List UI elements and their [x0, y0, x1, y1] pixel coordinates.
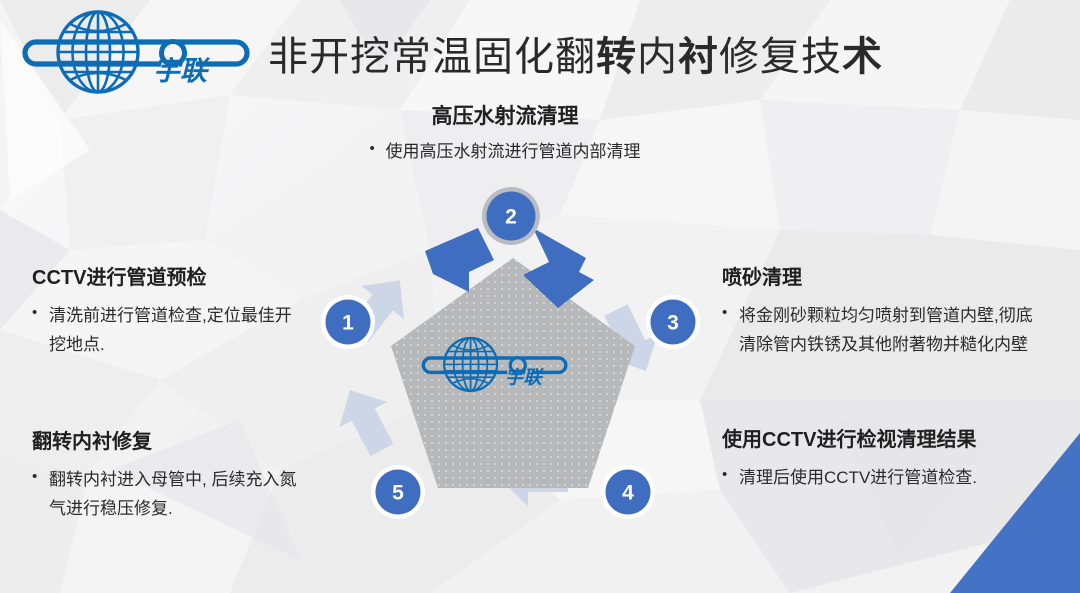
- step-badge-1[interactable]: 1: [321, 295, 375, 349]
- step-heading-high-pressure-water: 高压水射流清理: [290, 104, 720, 129]
- step-bullet-list-top: 使用高压水射流进行管道内部清理: [290, 137, 720, 166]
- step-text-block-top: 高压水射流清理 使用高压水射流进行管道内部清理: [290, 104, 720, 166]
- step-heading-cctv-precheck: CCTV进行管道预检: [32, 266, 304, 290]
- page-title-part-5: 修复技: [719, 35, 842, 79]
- logo-wordmark: 宇联: [153, 56, 211, 86]
- page-title-part-6: 术: [842, 35, 883, 79]
- process-cycle-diagram: 宇联 1 2 3: [318, 182, 708, 542]
- page-title-part-4: 衬: [678, 35, 719, 79]
- list-item: 翻转内衬进入母管中, 后续充入氮气进行稳压修复.: [32, 465, 304, 523]
- step-badge-2-label: 2: [505, 206, 517, 229]
- step-bullet-list-cctv-inspection: 清理后使用CCTV进行管道检查.: [722, 463, 1040, 492]
- list-item: 将金刚砂颗粒均匀喷射到管道内壁,彻底清除管内铁锈及其他附著物并糙化内壁: [722, 301, 1040, 359]
- slide-canvas: 宇联 非开挖常温固化翻转内衬修复技术: [0, 0, 1080, 593]
- step-badge-3[interactable]: 3: [646, 295, 700, 349]
- step-text-block-liner-repair: 翻转内衬修复 翻转内衬进入母管中, 后续充入氮气进行稳压修复.: [32, 430, 304, 523]
- step-text-block-cctv-inspection: 使用CCTV进行检视清理结果 清理后使用CCTV进行管道检查.: [722, 428, 1040, 492]
- step-badge-3-label: 3: [667, 312, 679, 335]
- page-title-part-2: 转: [596, 35, 637, 79]
- cycle-arrow-5: [326, 377, 406, 462]
- step-heading-cctv-inspection: 使用CCTV进行检视清理结果: [722, 428, 1040, 452]
- page-title: 非开挖常温固化翻转内衬修复技术: [268, 24, 883, 82]
- step-badge-1-label: 1: [342, 312, 354, 335]
- list-item: 清洗前进行管道检查,定位最佳开挖地点.: [32, 301, 304, 359]
- page-title-part-1: 非开挖常温固化翻: [268, 35, 596, 79]
- step-badge-5[interactable]: 5: [371, 465, 425, 519]
- step-heading-liner-repair: 翻转内衬修复: [32, 430, 304, 454]
- page-title-part-3: 内: [637, 35, 678, 79]
- slide-header: 宇联 非开挖常温固化翻转内衬修复技术: [0, 0, 1080, 100]
- step-bullet-list-sandblasting: 将金刚砂颗粒均匀喷射到管道内壁,彻底清除管内铁锈及其他附著物并糙化内壁: [722, 301, 1040, 359]
- center-logo-wordmark: 宇联: [505, 367, 544, 388]
- yulian-globe-pipe-logo: 宇联: [20, 8, 252, 96]
- step-heading-sandblasting: 喷砂清理: [722, 266, 1040, 290]
- step-badge-4[interactable]: 4: [601, 465, 655, 519]
- step-bullet-list-cctv-precheck: 清洗前进行管道检查,定位最佳开挖地点.: [32, 301, 304, 359]
- step-badge-4-label: 4: [622, 482, 634, 505]
- step-bullet-list-liner-repair: 翻转内衬进入母管中, 后续充入氮气进行稳压修复.: [32, 465, 304, 523]
- step-badge-5-label: 5: [392, 482, 404, 505]
- step-text-block-cctv-precheck: CCTV进行管道预检 清洗前进行管道检查,定位最佳开挖地点.: [32, 266, 304, 359]
- list-item: 清理后使用CCTV进行管道检查.: [722, 463, 1040, 492]
- list-item: 使用高压水射流进行管道内部清理: [370, 137, 641, 166]
- step-text-block-sandblasting: 喷砂清理 将金刚砂颗粒均匀喷射到管道内壁,彻底清除管内铁锈及其他附著物并糙化内壁: [722, 266, 1040, 359]
- step-badge-2[interactable]: 2: [482, 187, 540, 245]
